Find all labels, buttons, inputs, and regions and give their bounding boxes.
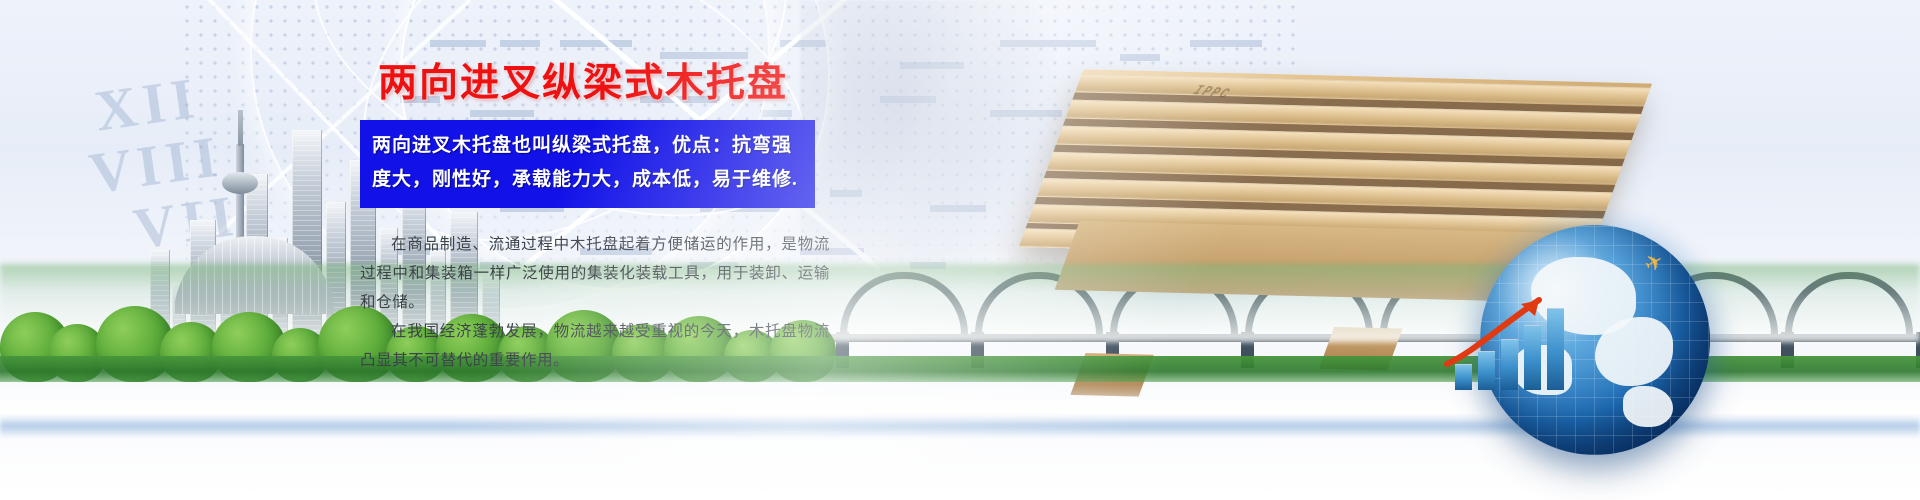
- growth-arrow-icon: [1443, 292, 1563, 372]
- highlight-callout: 两向进叉木托盘也叫纵梁式托盘，优点：抗弯强度大，刚性好，承载能力大，成本低，易于…: [360, 120, 815, 208]
- dome-building-icon: [174, 236, 334, 314]
- page-title: 两向进叉纵梁式木托盘: [378, 52, 860, 108]
- description-paragraph-2: 在我国经济蓬勃发展，物流越来越受重视的今天，木托盘物流凸显其不可替代的重要作用。: [360, 317, 830, 375]
- text-content: 两向进叉纵梁式木托盘 两向进叉木托盘也叫纵梁式托盘，优点：抗弯强度大，刚性好，承…: [360, 52, 860, 375]
- description-text: 在商品制造、流通过程中木托盘起着方便储运的作用，是物流过程中和集装箱一样广泛使用…: [360, 230, 830, 375]
- description-paragraph-1: 在商品制造、流通过程中木托盘起着方便储运的作用，是物流过程中和集装箱一样广泛使用…: [360, 230, 830, 317]
- promo-banner: XII VIII VII: [0, 0, 1920, 500]
